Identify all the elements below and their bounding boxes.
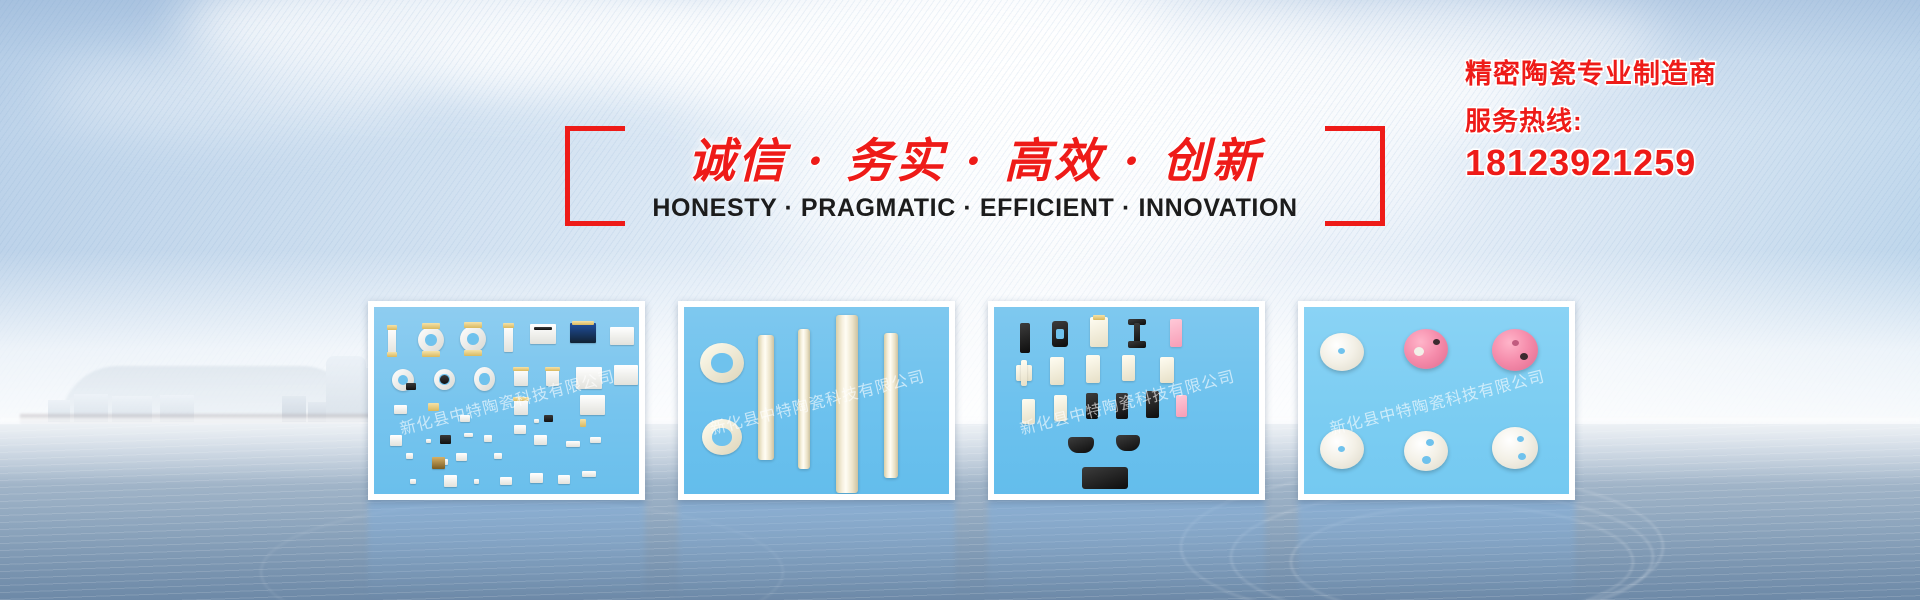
product-panel-ceramic-blocks[interactable]: 新化县中特陶瓷科技有限公司 xyxy=(988,301,1265,500)
panel-image: 新化县中特陶瓷科技有限公司 xyxy=(374,307,639,494)
panel-reflection xyxy=(988,500,1265,600)
slogan-english: HONESTY · PRAGMATIC · EFFICIENT · INNOVA… xyxy=(565,194,1385,223)
panel-image: 新化县中特陶瓷科技有限公司 xyxy=(1304,307,1569,494)
panel-reflection xyxy=(678,500,955,600)
slogan-chinese: 诚信 · 务实 · 高效 · 创新 xyxy=(565,122,1385,191)
product-panel-smd-components[interactable]: 新化县中特陶瓷科技有限公司 xyxy=(368,301,645,500)
panel-image: 新化县中特陶瓷科技有限公司 xyxy=(684,307,949,494)
panel-image: 新化县中特陶瓷科技有限公司 xyxy=(994,307,1259,494)
product-panel-row: 新化县中特陶瓷科技有限公司 新化县中特陶瓷科技有限公司 xyxy=(368,301,1584,500)
hotline-label: 服务热线: xyxy=(1465,101,1717,138)
product-panel-ceramic-tubes[interactable]: 新化县中特陶瓷科技有限公司 xyxy=(678,301,955,500)
hotline-number[interactable]: 18123921259 xyxy=(1465,142,1717,184)
company-tagline: 精密陶瓷专业制造商 xyxy=(1465,52,1717,91)
tower xyxy=(326,356,366,422)
panel-reflections xyxy=(0,500,1920,600)
contact-block: 精密陶瓷专业制造商 服务热线: 18123921259 xyxy=(1465,52,1885,184)
slogan-block: 诚信 · 务实 · 高效 · 创新 HONESTY · PRAGMATIC · … xyxy=(565,126,1385,236)
product-panel-ceramic-discs[interactable]: 新化县中特陶瓷科技有限公司 xyxy=(1298,301,1575,500)
panel-reflection xyxy=(368,500,645,600)
hero-banner: 诚信 · 务实 · 高效 · 创新 HONESTY · PRAGMATIC · … xyxy=(0,0,1920,600)
panel-reflection xyxy=(1298,500,1575,600)
